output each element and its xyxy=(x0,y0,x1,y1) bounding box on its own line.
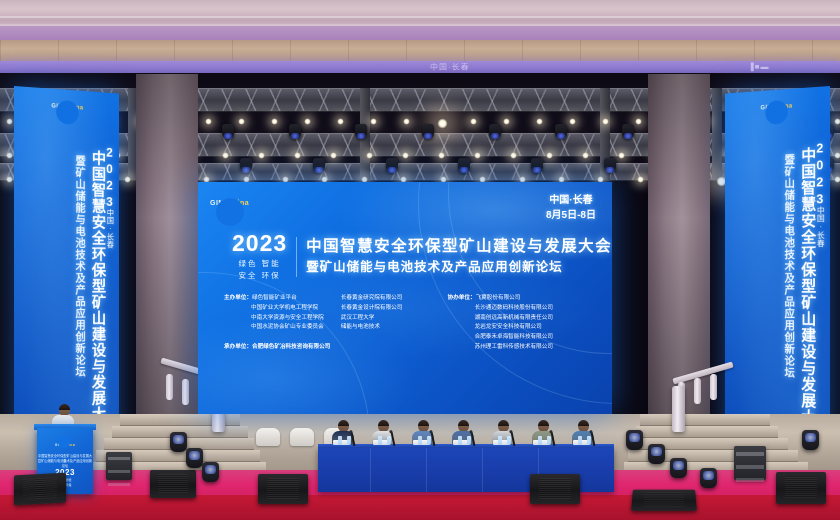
organizer-item: 中南大学资源与安全工程学院 xyxy=(224,314,341,324)
water-bottle xyxy=(538,436,542,445)
organizer-item: 武汉工程大学 xyxy=(341,314,448,324)
moving-head-light xyxy=(186,448,203,468)
water-bottle xyxy=(378,436,382,445)
moving-head-light xyxy=(604,158,616,173)
organizer-item: 长春黄金设计院有限公司 xyxy=(341,304,448,314)
water-bottle xyxy=(587,436,591,445)
baluster xyxy=(182,379,189,405)
podium-logo: GIM China xyxy=(37,433,93,451)
newel-post xyxy=(672,386,685,432)
stage-lamp xyxy=(470,118,477,125)
baluster xyxy=(710,374,717,400)
moving-head-light xyxy=(422,124,434,139)
moving-head-light xyxy=(670,458,687,478)
banner-city-left: 中国·长春 xyxy=(106,209,113,249)
gim-logo-icon: GIM China xyxy=(55,434,75,450)
moving-head-light xyxy=(648,444,665,464)
organizer-item: 中国水泥协会矿山专业委员会 xyxy=(224,323,341,333)
stage-lamp xyxy=(503,118,510,125)
conference-stage-photo: 中国·长春 ▐■▬ GIM China 中国智慧安 xyxy=(0,0,840,520)
stage-lamp xyxy=(271,118,278,125)
water-bottle xyxy=(338,436,342,445)
moving-head-light xyxy=(289,124,301,139)
moving-head-light xyxy=(170,432,187,452)
stage-lamp xyxy=(205,118,212,125)
baluster xyxy=(166,374,173,400)
screen-title-sub: 暨矿山储能与电池技术及产品应用创新论坛 xyxy=(306,259,612,275)
banner-year-left: 2023 xyxy=(103,145,115,211)
coorganizer-item: 苏州理工雷科传感技术有限公司 xyxy=(448,343,596,353)
water-bottle xyxy=(418,436,422,445)
banner-subtitle-right: 暨矿山储能与电池技术及产品应用创新论坛 xyxy=(783,154,794,379)
undertaker-label: 承办单位： xyxy=(224,344,252,350)
stage-lamp xyxy=(330,152,337,159)
led-ticker-text: 中国·长春 xyxy=(430,63,470,73)
screen-slogan-2: 安全 环保 xyxy=(232,270,287,282)
moving-head-light xyxy=(700,468,717,488)
equipment-road-case xyxy=(734,446,766,480)
ceiling-molding-line xyxy=(0,16,840,18)
empty-chair xyxy=(290,428,314,446)
banner-year-right: 2023 xyxy=(813,140,826,208)
stage-lamp xyxy=(438,152,445,159)
truss-post-right xyxy=(712,88,722,180)
stage-monitor-speaker xyxy=(150,470,196,498)
water-bottle xyxy=(498,436,502,445)
moving-head-light xyxy=(626,430,643,450)
screen-title-main: 中国智慧安全环保型矿山建设与发展大会 xyxy=(306,238,612,257)
empty-chair xyxy=(256,428,280,446)
coorganizer-item: 长沙通迈数码科技股份有限公司 xyxy=(448,304,596,314)
undertaker-value: 合肥绿色矿冶科技咨询有限公司 xyxy=(252,344,330,350)
banner-subtitle-left: 暨矿山储能与电池技术及产品应用创新论坛 xyxy=(74,155,84,378)
gim-logo-icon: GIM China xyxy=(761,96,793,114)
title-divider xyxy=(296,237,297,277)
coorganizer-label: 协办单位：飞翼股份有限公司 xyxy=(448,294,596,304)
moving-head-light xyxy=(489,124,501,139)
stage-lamp xyxy=(366,152,373,159)
stage-lamp xyxy=(402,152,409,159)
screen-titles: 中国智慧安全环保型矿山建设与发展大会 暨矿山储能与电池技术及产品应用创新论坛 xyxy=(306,238,612,276)
main-led-screen: GIM China 中国·长春 8月5日-8日 2023 绿色 智能 安全 环保… xyxy=(198,182,612,414)
moving-head-light xyxy=(802,430,819,450)
stage-lamp xyxy=(6,118,13,125)
stage-lamp xyxy=(474,152,481,159)
stage-lamp xyxy=(238,118,245,125)
moving-head-light xyxy=(240,158,252,173)
stage-lamp xyxy=(6,152,13,159)
organizer-label: 主办单位：绿色智能矿业平台 xyxy=(224,294,341,304)
moving-head-light xyxy=(622,124,634,139)
organizer-item: 长春黄金研究院有限公司 xyxy=(341,294,448,304)
stage-monitor-speaker xyxy=(14,473,66,506)
equipment-road-case xyxy=(106,452,132,480)
stage-lamp xyxy=(258,152,265,159)
stage-lamp xyxy=(637,176,644,183)
screen-slogan-1: 绿色 智能 xyxy=(232,258,287,270)
water-bottle xyxy=(578,436,582,445)
coorganizer-item: 合肥泰禾卓海智能科技有限公司 xyxy=(448,333,596,343)
stage-lamp xyxy=(834,152,840,159)
moving-head-light xyxy=(555,124,567,139)
stage-lamp xyxy=(546,152,553,159)
stage-monitor-speaker xyxy=(776,472,826,504)
screen-date-block: 中国·长春 8月5日-8日 xyxy=(546,194,596,223)
organizer-item: 储能与电池技术 xyxy=(341,323,448,333)
moving-head-light xyxy=(313,158,325,173)
screen-undertaker-row: 承办单位：合肥绿色矿冶科技咨询有限公司 xyxy=(224,342,330,350)
moving-head-light xyxy=(202,462,219,482)
moving-head-light xyxy=(222,124,234,139)
stage-monitor-speaker xyxy=(530,474,580,504)
water-bottle xyxy=(427,436,431,445)
stage-lamp xyxy=(582,152,589,159)
screen-gim-logo: GIM China xyxy=(210,192,249,210)
stage-lamp xyxy=(294,152,301,159)
organizer-column-host-2: 长春黄金研究院有限公司 长春黄金设计院有限公司 武汉工程大学 储能与电池技术 xyxy=(341,294,448,353)
screen-title-row: 2023 绿色 智能 安全 环保 中国智慧安全环保型矿山建设与发展大会 暨矿山储… xyxy=(232,232,612,281)
moving-head-light xyxy=(531,158,543,173)
coorganizer-item: 湖南创远高新机械有限责任公司 xyxy=(448,314,596,324)
water-bottle xyxy=(467,436,471,445)
stage-lamp xyxy=(569,118,576,125)
water-bottle xyxy=(547,436,551,445)
coorganizer-item: 龙岩龙安安全科技有限公司 xyxy=(448,323,596,333)
gim-logo-icon: GIM China xyxy=(210,193,249,209)
baluster xyxy=(694,378,701,404)
upper-wall-band xyxy=(0,40,840,62)
stage-monitor-speaker xyxy=(631,490,697,511)
stage-monitor-speaker xyxy=(258,474,308,504)
screen-year-block: 2023 绿色 智能 安全 环保 xyxy=(232,232,287,281)
water-bottle xyxy=(347,436,351,445)
screen-location: 中国·长春 xyxy=(546,194,596,209)
stage-lamp xyxy=(536,118,543,125)
moving-head-light xyxy=(355,124,367,139)
stage-lamp xyxy=(437,118,448,129)
stage-lamp xyxy=(834,176,840,183)
stage-lamp xyxy=(618,152,625,159)
stage-step xyxy=(640,414,770,426)
water-bottle xyxy=(458,436,462,445)
moving-head-light xyxy=(386,158,398,173)
moving-head-light xyxy=(458,158,470,173)
stage-step xyxy=(636,426,778,438)
screen-year: 2023 xyxy=(232,232,287,255)
led-ticker-text-right: ▐■▬ xyxy=(748,62,770,70)
stage-lamp xyxy=(510,152,517,159)
stage-lamp xyxy=(834,118,840,125)
stage-lamp xyxy=(222,152,229,159)
banner-city-right: 中国·长春 xyxy=(816,206,824,247)
screen-dates: 8月5日-8日 xyxy=(546,209,596,224)
water-bottle xyxy=(387,436,391,445)
water-bottle xyxy=(507,436,511,445)
gim-logo-icon: GIM China xyxy=(51,96,83,114)
red-carpet-runner xyxy=(0,495,840,520)
organizer-column-coorg: 协办单位：飞翼股份有限公司 长沙通迈数码科技股份有限公司 湖南创远高新机械有限责… xyxy=(448,294,596,353)
organizer-item: 中国矿业大学机电工程学院 xyxy=(224,304,341,314)
stage-lamp xyxy=(6,176,13,183)
